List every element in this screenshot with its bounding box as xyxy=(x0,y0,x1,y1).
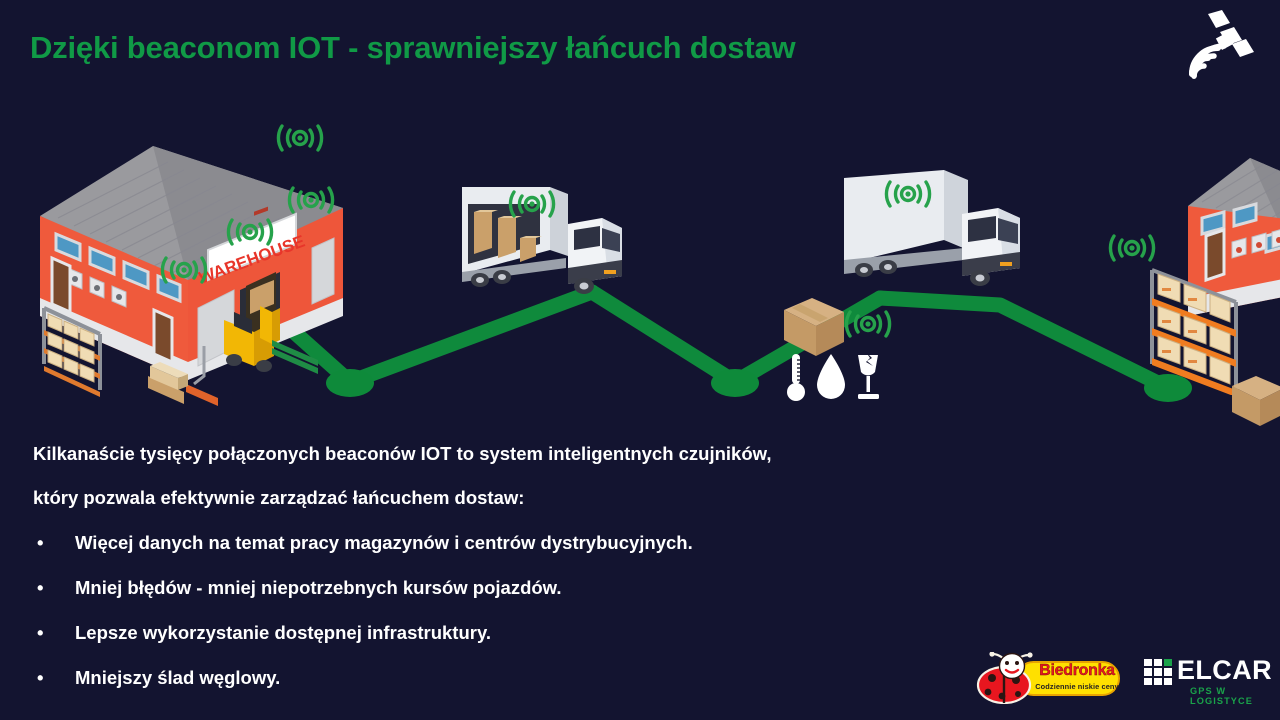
elcar-tagline: GPS W LOGISTYCE xyxy=(1190,686,1272,706)
list-item-label: Mniejszy ślad węglowy. xyxy=(75,667,280,688)
beacon-icon xyxy=(279,180,343,220)
satellite-icon xyxy=(1172,8,1262,86)
bullet-marker: • xyxy=(37,610,43,655)
beacon-icon xyxy=(1100,228,1164,268)
list-item: • Więcej danych na temat pracy magazynów… xyxy=(33,520,1043,565)
elcar-logo: ELCAR GPS W LOGISTYCE xyxy=(1144,655,1272,701)
elcar-wordmark: ELCAR xyxy=(1177,655,1272,685)
intro-line-1: Kilkanaście tysięcy połączonych beaconów… xyxy=(33,432,1043,476)
list-item-label: Mniej błędów - mniej niepotrzebnych kurs… xyxy=(75,577,562,598)
thermometer-icon xyxy=(787,354,805,401)
page-title: Dzięki beaconom IOT - sprawniejszy łańcu… xyxy=(30,30,795,66)
benefit-list: • Więcej danych na temat pracy magazynów… xyxy=(33,520,1043,700)
biedronka-wordmark: Biedronka xyxy=(1034,662,1120,680)
slide-root: Dzięki beaconom IOT - sprawniejszy łańcu… xyxy=(0,0,1280,720)
humidity-drop-icon xyxy=(817,354,845,399)
parcel-box-right xyxy=(1228,370,1280,432)
sensor-icon-group xyxy=(786,352,882,404)
fragile-glass-icon xyxy=(858,352,879,399)
beacon-icon xyxy=(152,250,216,290)
list-item-label: Lepsze wykorzystanie dostępnej infrastru… xyxy=(75,622,491,643)
logo-bar: Biedronka Codziennie niskie ceny ELCAR G… xyxy=(974,650,1272,706)
bullet-marker: • xyxy=(37,520,43,565)
beacon-icon xyxy=(500,184,564,224)
elcar-grid-icon xyxy=(1144,659,1172,685)
list-item: • Mniej błędów - mniej niepotrzebnych ku… xyxy=(33,565,1043,610)
beacon-icon xyxy=(836,304,900,344)
biedronka-logo: Biedronka Codziennie niskie ceny xyxy=(974,652,1122,704)
beacon-icon xyxy=(268,118,332,158)
bullet-marker: • xyxy=(37,565,43,610)
biedronka-tagline: Codziennie niskie ceny xyxy=(1032,682,1122,691)
list-item-label: Więcej danych na temat pracy magazynów i… xyxy=(75,532,693,553)
ladybug-icon xyxy=(974,652,1040,704)
list-item: • Lepsze wykorzystanie dostępnej infrast… xyxy=(33,610,1043,655)
body-text-block: Kilkanaście tysięcy połączonych beaconów… xyxy=(33,432,1043,700)
beacon-icon xyxy=(218,212,282,252)
intro-line-2: który pozwala efektywnie zarządzać łańcu… xyxy=(33,476,1043,520)
supply-chain-diagram: WAREHOUSE xyxy=(0,100,1280,420)
bullet-marker: • xyxy=(37,655,43,700)
beacon-icon xyxy=(876,174,940,214)
list-item: • Mniejszy ślad węglowy. xyxy=(33,655,1043,700)
